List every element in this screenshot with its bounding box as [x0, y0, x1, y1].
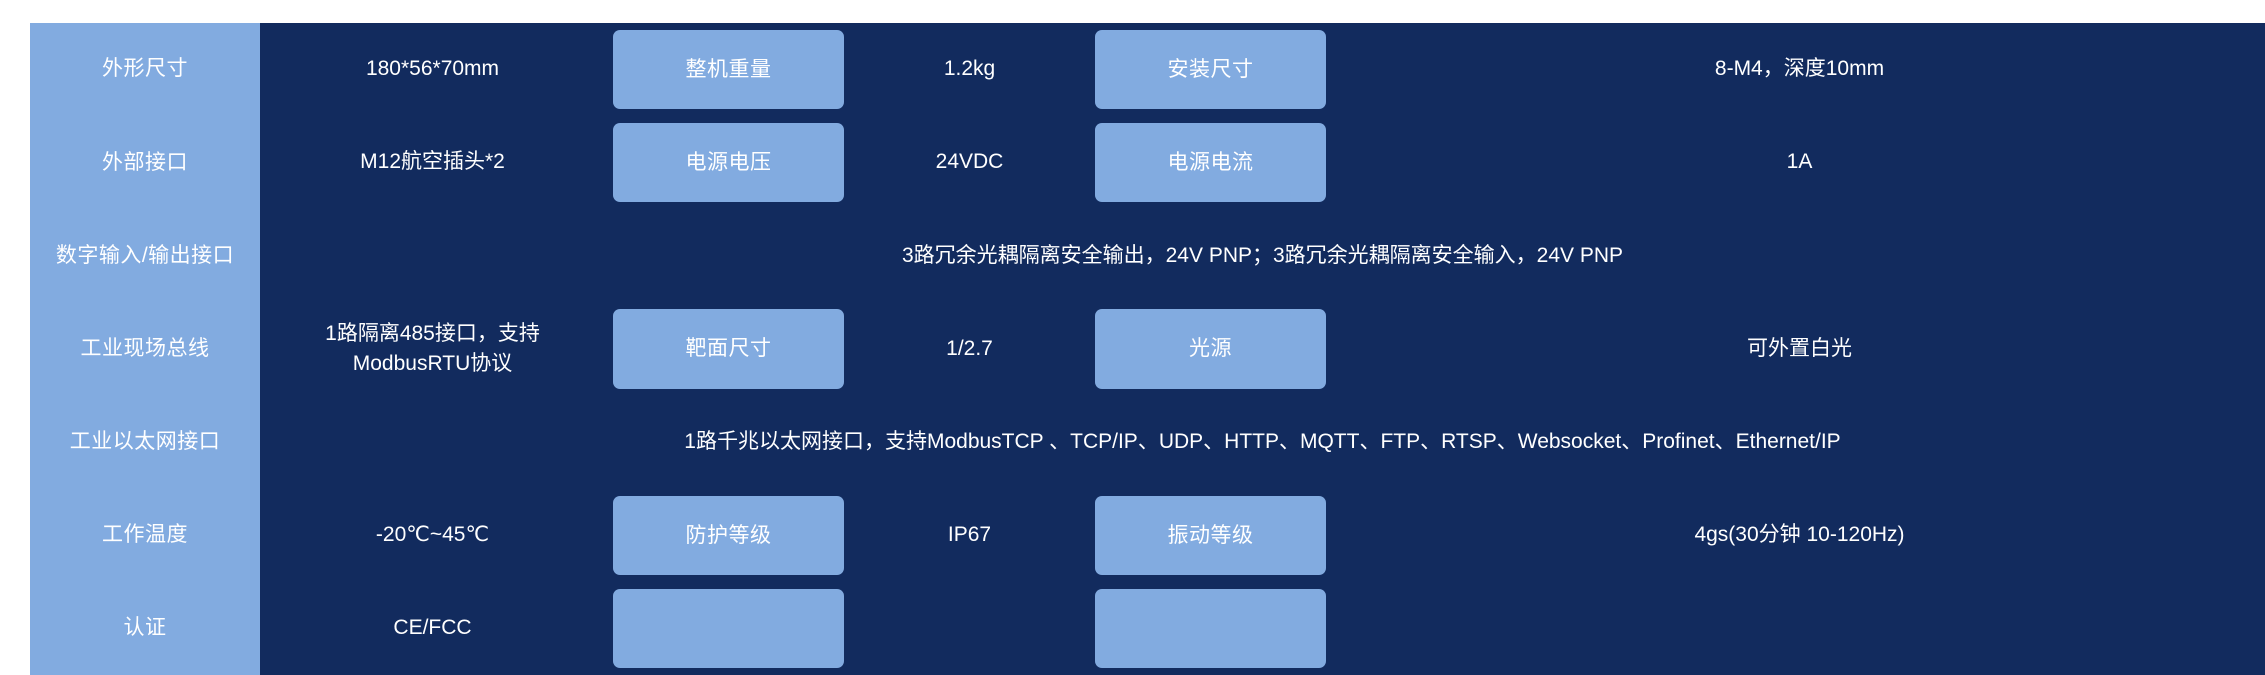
table-row: 外形尺寸 180*56*70mm 整机重量 1.2kg 安装尺寸 8-M4，深度…	[30, 23, 2265, 116]
spec-label-cell: 工作温度	[30, 489, 260, 582]
spec-pill-button[interactable]: 靶面尺寸	[613, 309, 844, 388]
spec-pill-cell: 安装尺寸	[1087, 23, 1334, 116]
spec-pill-button[interactable]	[1095, 589, 1326, 668]
spec-value-cell: -20℃~45℃	[260, 489, 605, 582]
spec-table: 外形尺寸 180*56*70mm 整机重量 1.2kg 安装尺寸 8-M4，深度…	[30, 23, 2265, 675]
spec-pill-cell: 防护等级	[605, 489, 852, 582]
spec-pill-button[interactable]: 整机重量	[613, 30, 844, 109]
spec-value-cell: 1路隔离485接口，支持 ModbusRTU协议	[260, 302, 605, 395]
table-row: 工业以太网接口 1路千兆以太网接口，支持ModbusTCP 、TCP/IP、UD…	[30, 396, 2265, 489]
spec-value-cell: 4gs(30分钟 10-120Hz)	[1334, 489, 2265, 582]
spec-value-cell: 24VDC	[852, 116, 1087, 209]
spec-value-cell	[1334, 582, 2265, 675]
spec-merged-value-cell: 1路千兆以太网接口，支持ModbusTCP 、TCP/IP、UDP、HTTP、M…	[260, 396, 2265, 489]
table-row: 外部接口 M12航空插头*2 电源电压 24VDC 电源电流 1A	[30, 116, 2265, 209]
table-row: 数字输入/输出接口 3路冗余光耦隔离安全输出，24V PNP；3路冗余光耦隔离安…	[30, 209, 2265, 302]
spec-pill-cell: 电源电压	[605, 116, 852, 209]
spec-label-cell: 工业以太网接口	[30, 396, 260, 489]
spec-value-cell: 1A	[1334, 116, 2265, 209]
spec-pill-cell	[605, 582, 852, 675]
spec-pill-cell	[1087, 582, 1334, 675]
spec-pill-cell: 振动等级	[1087, 489, 1334, 582]
table-row: 工作温度 -20℃~45℃ 防护等级 IP67 振动等级 4gs(30分钟 10…	[30, 489, 2265, 582]
spec-pill-cell: 靶面尺寸	[605, 302, 852, 395]
table-row: 认证 CE/FCC	[30, 582, 2265, 675]
spec-value-cell	[852, 582, 1087, 675]
spec-label-cell: 工业现场总线	[30, 302, 260, 395]
spec-pill-button[interactable]: 防护等级	[613, 496, 844, 575]
spec-pill-button[interactable]: 光源	[1095, 309, 1326, 388]
spec-pill-cell: 电源电流	[1087, 116, 1334, 209]
spec-value-cell: 8-M4，深度10mm	[1334, 23, 2265, 116]
spec-value-cell: CE/FCC	[260, 582, 605, 675]
spec-pill-button[interactable]: 电源电压	[613, 123, 844, 202]
spec-value-cell: 可外置白光	[1334, 302, 2265, 395]
spec-pill-button[interactable]: 安装尺寸	[1095, 30, 1326, 109]
spec-value-cell: 1.2kg	[852, 23, 1087, 116]
spec-pill-button[interactable]	[613, 589, 844, 668]
spec-pill-button[interactable]: 振动等级	[1095, 496, 1326, 575]
spec-label-cell: 外形尺寸	[30, 23, 260, 116]
spec-pill-button[interactable]: 电源电流	[1095, 123, 1326, 202]
spec-pill-cell: 光源	[1087, 302, 1334, 395]
spec-label-cell: 认证	[30, 582, 260, 675]
spec-label-cell: 外部接口	[30, 116, 260, 209]
spec-value-cell: 180*56*70mm	[260, 23, 605, 116]
spec-pill-cell: 整机重量	[605, 23, 852, 116]
spec-label-cell: 数字输入/输出接口	[30, 209, 260, 302]
spec-value-cell: 1/2.7	[852, 302, 1087, 395]
table-row: 工业现场总线 1路隔离485接口，支持 ModbusRTU协议 靶面尺寸 1/2…	[30, 302, 2265, 395]
product-specification-sheet: 外形尺寸 180*56*70mm 整机重量 1.2kg 安装尺寸 8-M4，深度…	[0, 0, 2265, 675]
spec-merged-value-cell: 3路冗余光耦隔离安全输出，24V PNP；3路冗余光耦隔离安全输入，24V PN…	[260, 209, 2265, 302]
spec-value-cell: M12航空插头*2	[260, 116, 605, 209]
spec-value-cell: IP67	[852, 489, 1087, 582]
